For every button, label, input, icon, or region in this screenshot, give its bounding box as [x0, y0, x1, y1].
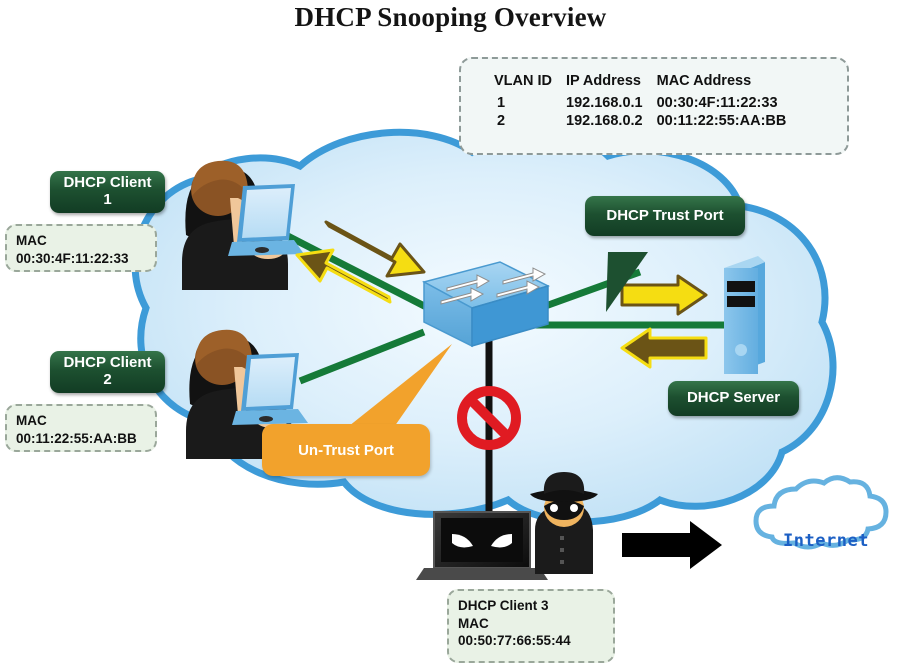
col-vlan-id: VLAN ID	[494, 71, 566, 94]
table-header-row: VLAN ID IP Address MAC Address	[494, 71, 800, 94]
label-dhcp-trust-port: DHCP Trust Port	[585, 196, 745, 236]
cell-vlan: 1	[494, 94, 566, 112]
dhcp-server-device	[724, 256, 765, 374]
col-mac-address: MAC Address	[657, 71, 801, 94]
table-row: 1 192.168.0.1 00:30:4F:11:22:33	[494, 94, 800, 112]
internet-arrow	[622, 521, 722, 569]
mac-box-client-3: DHCP Client 3 MAC 00:50:77:66:55:44	[447, 589, 615, 663]
mac-box-client-1: MAC 00:30:4F:11:22:33	[5, 224, 157, 272]
label-dhcp-client-1: DHCP Client 1	[50, 171, 165, 213]
table-row: 2 192.168.0.2 00:11:22:55:AA:BB	[494, 112, 800, 130]
cell-mac: 00:30:4F:11:22:33	[657, 94, 801, 112]
mac-value: 00:30:4F:11:22:33	[16, 250, 147, 268]
mac-value: 00:11:22:55:AA:BB	[16, 430, 147, 448]
rogue-laptop	[416, 512, 548, 580]
cell-ip: 192.168.0.2	[566, 112, 657, 130]
cell-vlan: 2	[494, 112, 566, 130]
col-ip-address: IP Address	[566, 71, 657, 94]
diagram-canvas: DHCP Snooping Overview	[0, 0, 901, 670]
cell-ip: 192.168.0.1	[566, 94, 657, 112]
mac-box-client-2: MAC 00:11:22:55:AA:BB	[5, 404, 157, 452]
mac-caption: MAC	[16, 232, 147, 250]
label-dhcp-client-2: DHCP Client 2	[50, 351, 165, 393]
label-un-trust-port: Un-Trust Port	[262, 424, 430, 476]
dhcp-binding-table: VLAN ID IP Address MAC Address 1 192.168…	[494, 71, 800, 130]
client3-name: DHCP Client 3	[458, 597, 605, 615]
label-internet: Internet	[766, 531, 886, 551]
mac-caption: MAC	[16, 412, 147, 430]
dhcp-binding-table-panel: VLAN ID IP Address MAC Address 1 192.168…	[459, 57, 849, 155]
mac-caption: MAC	[458, 615, 605, 633]
cell-mac: 00:11:22:55:AA:BB	[657, 112, 801, 130]
label-dhcp-server: DHCP Server	[668, 381, 799, 416]
mac-value: 00:50:77:66:55:44	[458, 632, 605, 650]
